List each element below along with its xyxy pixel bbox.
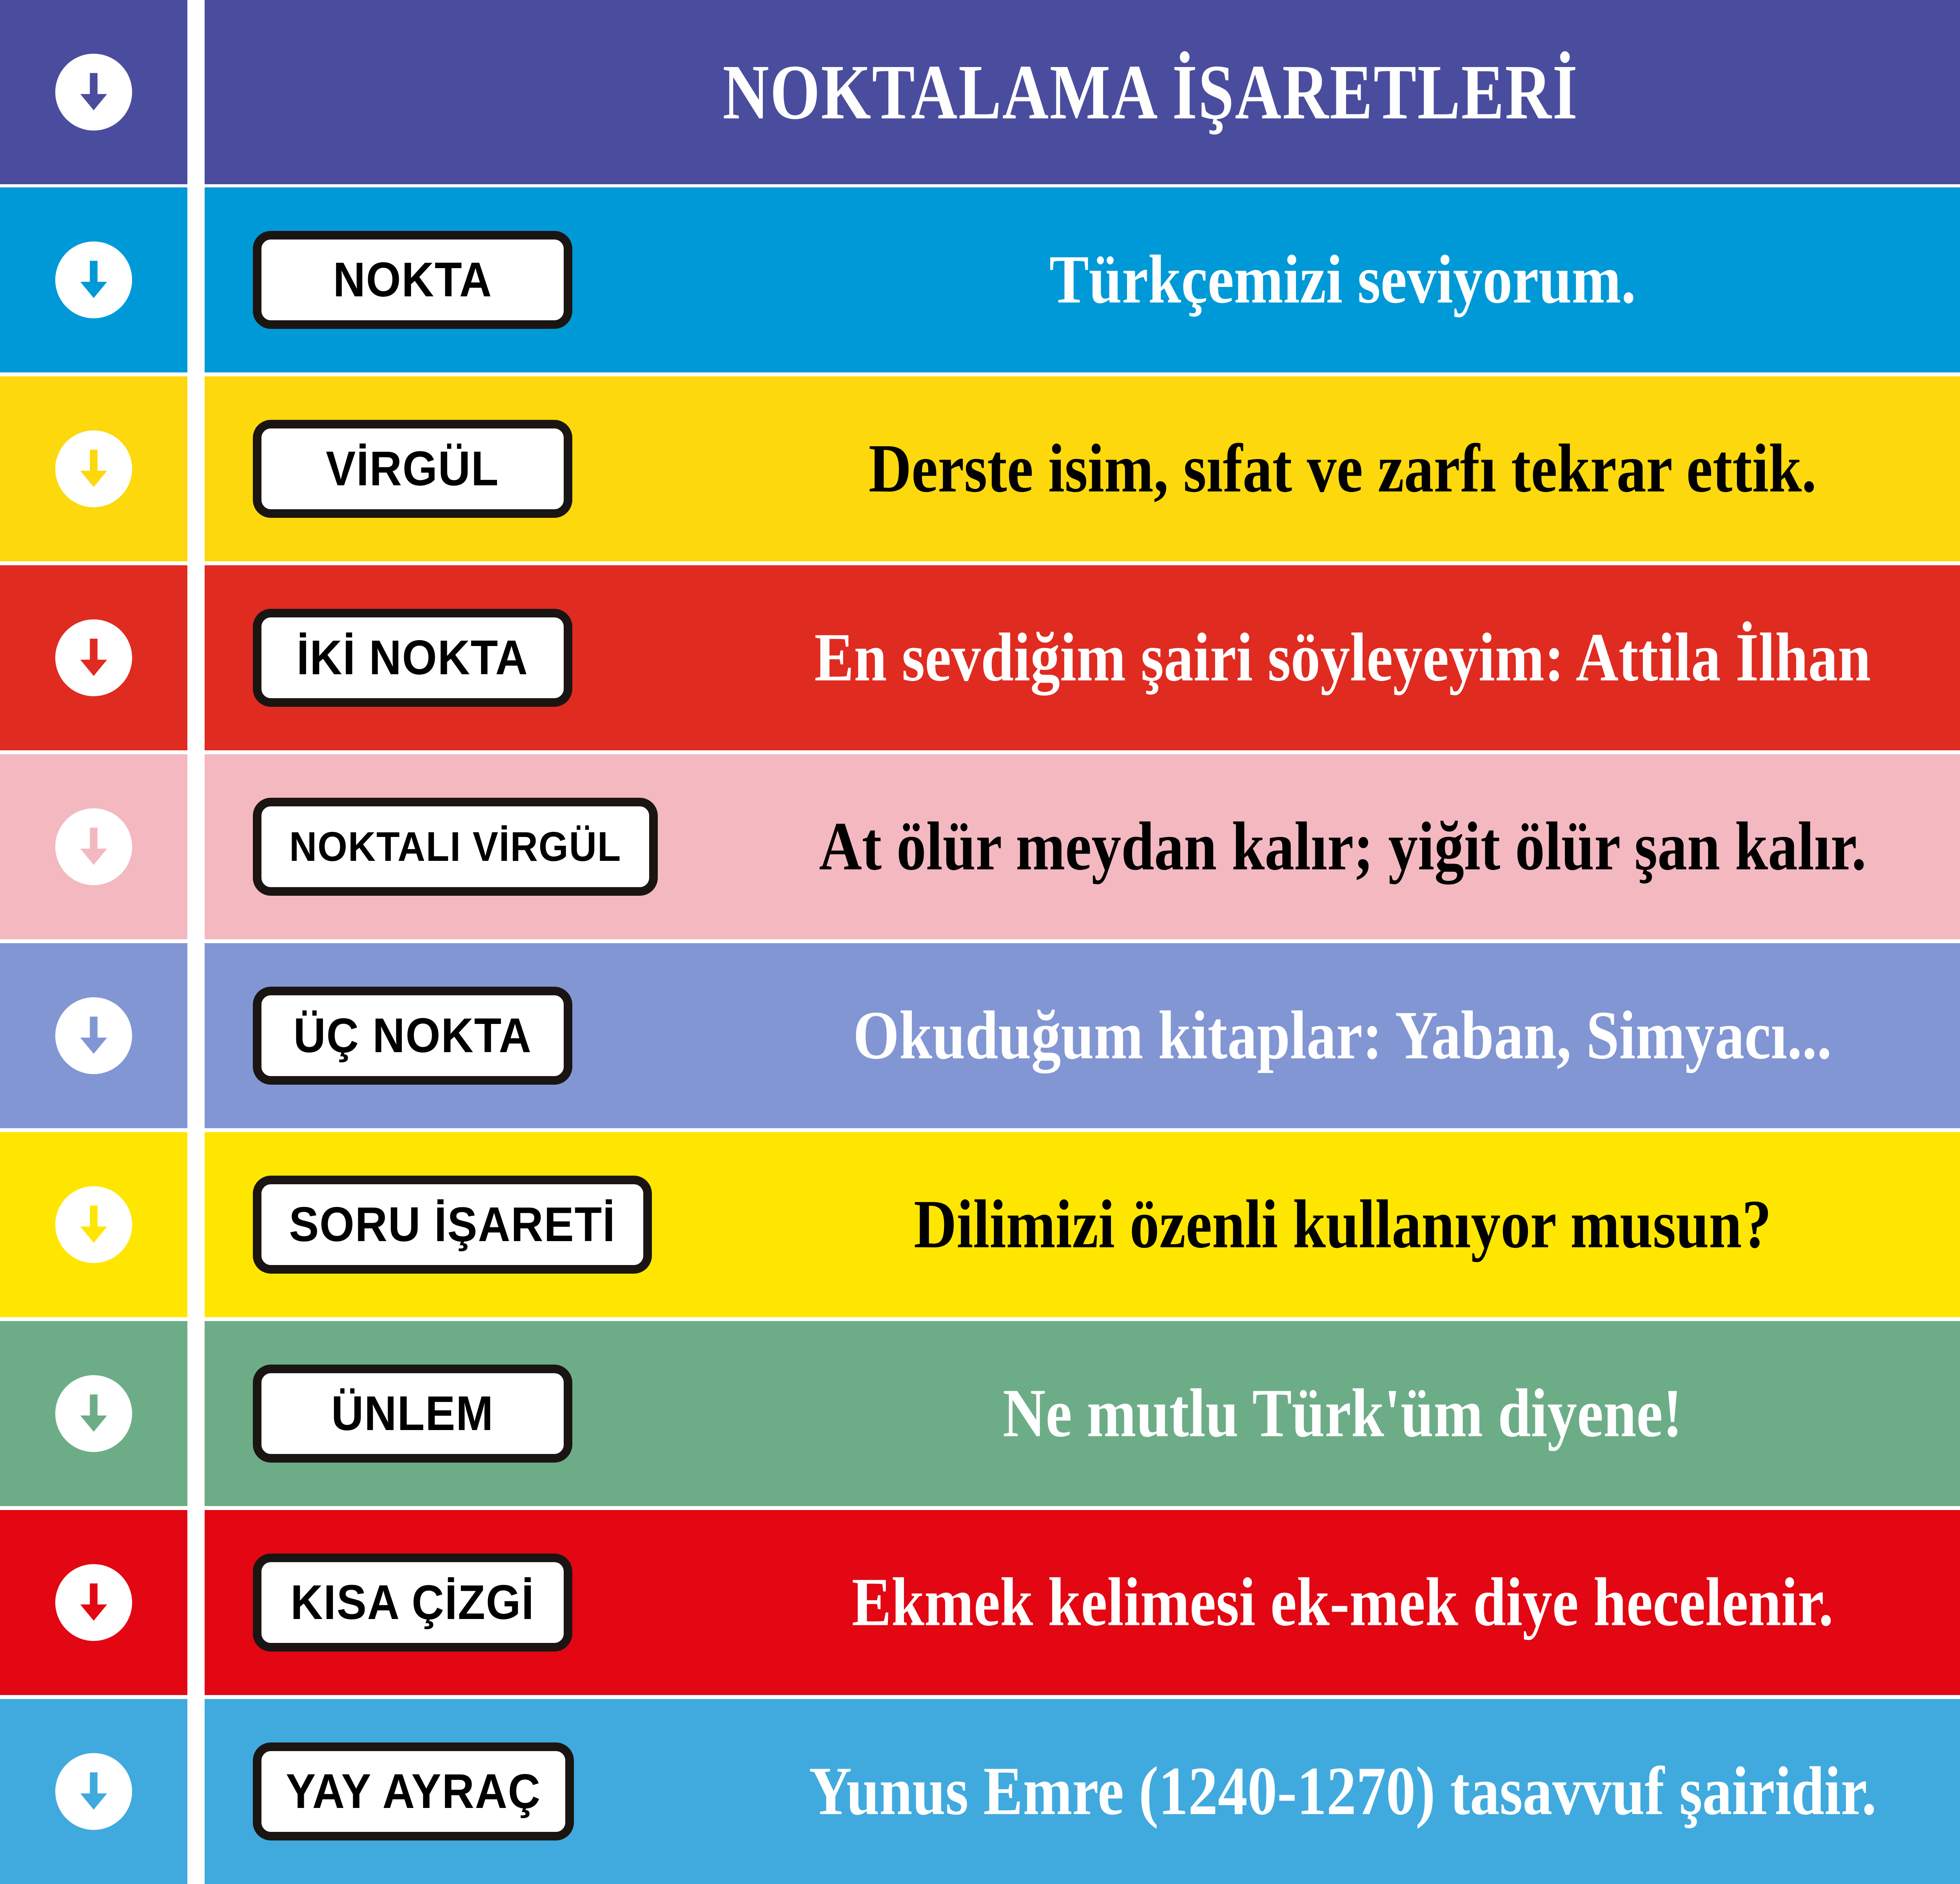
row-content-column: ÜÇ NOKTAOkuduğum kitaplar: Yaban, Simyac… (205, 943, 1960, 1128)
punctuation-row: KISA ÇİZGİEkmek kelimesi ek-mek diye hec… (0, 1510, 1960, 1695)
example-sentence: At ölür meydan kalır; yiğit ölür şan kal… (620, 811, 1960, 883)
punctuation-tag-box[interactable]: YAY AYRAÇ (253, 1742, 574, 1840)
row-left-arrow-column (0, 754, 187, 939)
punctuation-tag-label: VİRGÜL (326, 445, 499, 493)
row-content-column: ÜNLEMNe mutlu Türk'üm diyene! (205, 1321, 1960, 1506)
punctuation-tag-label: İKİ NOKTA (297, 633, 528, 682)
punctuation-tag-box[interactable]: NOKTA (253, 231, 572, 329)
example-sentence: En sevdiğim şairi söyleyeyim: Attila İlh… (620, 622, 1960, 694)
punctuation-row: YAY AYRAÇYunus Emre (1240-1270) tasavvuf… (0, 1699, 1960, 1884)
arrow-down-circle-icon (55, 808, 132, 885)
row-content-column: YAY AYRAÇYunus Emre (1240-1270) tasavvuf… (205, 1699, 1960, 1884)
row-left-arrow-column (0, 187, 187, 372)
row-content-column: SORU İŞARETİDilimizi özenli kullanıyor m… (205, 1132, 1960, 1317)
punctuation-tag-box[interactable]: ÜÇ NOKTA (253, 987, 572, 1085)
punctuation-tag-box[interactable]: İKİ NOKTA (253, 609, 572, 707)
example-sentence-text: Ekmek kelimesi ek-mek diye hecelenir. (852, 1566, 1833, 1639)
punctuation-tag-label: ÜÇ NOKTA (293, 1011, 532, 1060)
punctuation-tag-box[interactable]: KISA ÇİZGİ (253, 1554, 572, 1652)
example-sentence-text: At ölür meydan kalır; yiğit ölür şan kal… (819, 811, 1866, 883)
arrow-down-circle-icon (55, 430, 132, 507)
example-sentence-text: Dilimizi özenli kullanıyor musun? (914, 1189, 1771, 1261)
punctuation-row: İKİ NOKTAEn sevdiğim şairi söyleyeyim: A… (0, 565, 1960, 750)
row-inner: NOKTALI VİRGÜLAt ölür meydan kalır; yiği… (205, 754, 1960, 939)
example-sentence-text: Okuduğum kitaplar: Yaban, Simyacı... (853, 1000, 1832, 1072)
row-content-column: VİRGÜLDerste isim, sıfat ve zarfı tekrar… (205, 376, 1960, 561)
punctuation-row: NOKTALI VİRGÜLAt ölür meydan kalır; yiği… (0, 754, 1960, 939)
punctuation-row: ÜÇ NOKTAOkuduğum kitaplar: Yaban, Simyac… (0, 943, 1960, 1128)
arrow-down-circle-icon (55, 241, 132, 318)
row-inner: YAY AYRAÇYunus Emre (1240-1270) tasavvuf… (205, 1699, 1960, 1884)
header-title-column: NOKTALAMA İŞARETLERİ (205, 0, 1960, 184)
example-sentence: Türkçemizi seviyorum. (620, 244, 1960, 316)
header-band: NOKTALAMA İŞARETLERİ (0, 0, 1960, 184)
row-inner: ÜNLEMNe mutlu Türk'üm diyene! (205, 1321, 1960, 1506)
punctuation-row: ÜNLEMNe mutlu Türk'üm diyene! (0, 1321, 1960, 1506)
punctuation-row: SORU İŞARETİDilimizi özenli kullanıyor m… (0, 1132, 1960, 1317)
punctuation-tag-box[interactable]: SORU İŞARETİ (253, 1176, 652, 1274)
arrow-down-circle-icon (55, 54, 132, 131)
example-sentence: Okuduğum kitaplar: Yaban, Simyacı... (620, 1000, 1960, 1072)
punctuation-tag-label: ÜNLEM (331, 1389, 494, 1438)
example-sentence-text: Derste isim, sıfat ve zarfı tekrar ettik… (869, 433, 1817, 505)
header-left-arrow-column (0, 0, 187, 184)
arrow-down-circle-icon (55, 1753, 132, 1830)
example-sentence: Ekmek kelimesi ek-mek diye hecelenir. (620, 1566, 1960, 1639)
example-sentence-text: Türkçemizi seviyorum. (1049, 244, 1636, 316)
row-left-arrow-column (0, 1321, 187, 1506)
row-inner: NOKTATürkçemizi seviyorum. (205, 187, 1960, 372)
punctuation-tag-label: NOKTA (333, 256, 492, 304)
row-left-arrow-column (0, 376, 187, 561)
row-inner: KISA ÇİZGİEkmek kelimesi ek-mek diye hec… (205, 1510, 1960, 1695)
row-content-column: NOKTATürkçemizi seviyorum. (205, 187, 1960, 372)
punctuation-tag-box[interactable]: ÜNLEM (253, 1365, 572, 1463)
example-sentence-text: Ne mutlu Türk'üm diyene! (1003, 1378, 1682, 1450)
row-left-arrow-column (0, 1132, 187, 1317)
punctuation-tag-box[interactable]: NOKTALI VİRGÜL (253, 798, 658, 896)
arrow-down-circle-icon (55, 997, 132, 1074)
example-sentence: Derste isim, sıfat ve zarfı tekrar ettik… (620, 433, 1960, 505)
row-left-arrow-column (0, 565, 187, 750)
row-content-column: KISA ÇİZGİEkmek kelimesi ek-mek diye hec… (205, 1510, 1960, 1695)
arrow-down-circle-icon (55, 1564, 132, 1641)
punctuation-poster: NOKTALAMA İŞARETLERİ NOKTATürkçemizi sev… (0, 0, 1960, 1852)
punctuation-row: VİRGÜLDerste isim, sıfat ve zarfı tekrar… (0, 376, 1960, 561)
arrow-down-circle-icon (55, 1186, 132, 1263)
row-left-arrow-column (0, 1699, 187, 1884)
example-sentence-text: En sevdiğim şairi söyleyeyim: Attila İlh… (814, 622, 1871, 694)
punctuation-tag-box[interactable]: VİRGÜL (253, 420, 572, 518)
example-sentence-text: Yunus Emre (1240-1270) tasavvuf şairidir… (809, 1755, 1876, 1828)
example-sentence: Dilimizi özenli kullanıyor musun? (620, 1189, 1960, 1261)
row-inner: ÜÇ NOKTAOkuduğum kitaplar: Yaban, Simyac… (205, 943, 1960, 1128)
row-inner: İKİ NOKTAEn sevdiğim şairi söyleyeyim: A… (205, 565, 1960, 750)
punctuation-tag-label: NOKTALI VİRGÜL (289, 826, 621, 868)
example-sentence: Ne mutlu Türk'üm diyene! (620, 1378, 1960, 1450)
punctuation-row: NOKTATürkçemizi seviyorum. (0, 187, 1960, 372)
punctuation-tag-label: SORU İŞARETİ (289, 1200, 615, 1249)
punctuation-tag-label: KISA ÇİZGİ (290, 1578, 535, 1627)
row-left-arrow-column (0, 1510, 187, 1695)
punctuation-tag-label: YAY AYRAÇ (286, 1767, 541, 1816)
arrow-down-circle-icon (55, 619, 132, 696)
example-sentence: Yunus Emre (1240-1270) tasavvuf şairidir… (620, 1755, 1960, 1828)
row-left-arrow-column (0, 943, 187, 1128)
page-title: NOKTALAMA İŞARETLERİ (375, 0, 1926, 184)
row-content-column: İKİ NOKTAEn sevdiğim şairi söyleyeyim: A… (205, 565, 1960, 750)
row-inner: SORU İŞARETİDilimizi özenli kullanıyor m… (205, 1132, 1960, 1317)
row-inner: VİRGÜLDerste isim, sıfat ve zarfı tekrar… (205, 376, 1960, 561)
arrow-down-circle-icon (55, 1375, 132, 1452)
row-content-column: NOKTALI VİRGÜLAt ölür meydan kalır; yiği… (205, 754, 1960, 939)
